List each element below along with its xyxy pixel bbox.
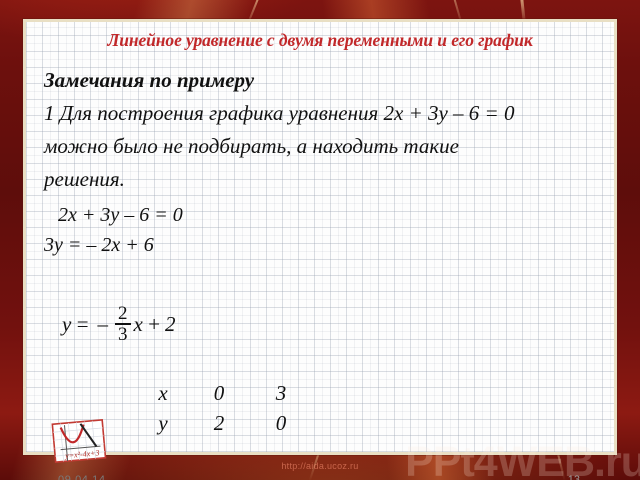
fraction-equation-plus: + — [143, 312, 165, 337]
xy-value-table: x 0 3 y 2 0 — [138, 378, 312, 438]
paragraph-line-2: можно было не подбирать, а находить таки… — [44, 130, 600, 163]
cell-x-1: 3 — [250, 378, 312, 408]
fraction: 2 3 — [115, 304, 131, 345]
section-heading: Замечания по примеру — [44, 64, 600, 97]
cell-y-0: 2 — [188, 408, 250, 438]
frame-light-streak — [556, 450, 566, 480]
fraction-numerator: 2 — [115, 304, 131, 323]
fraction-equation: y = – 2 3 x + 2 — [62, 304, 176, 345]
table-row: x 0 3 — [138, 378, 312, 408]
cell-y-1: 0 — [250, 408, 312, 438]
date-stamp: 09.04.14 — [58, 474, 106, 480]
page-number: 13 — [568, 474, 580, 480]
paragraph-line-1: 1 Для построения графика уравнения 2x + … — [44, 97, 600, 130]
math-parabola-stamp-icon: y=x²-4x+3 — [50, 416, 108, 469]
site-watermark: http://aida.ucoz.ru — [281, 461, 358, 471]
fraction-denominator: 3 — [115, 323, 131, 344]
cell-x-0: 0 — [188, 378, 250, 408]
equation-line-2: 3y = – 2x + 6 — [44, 230, 183, 260]
row-variable-x: x — [138, 378, 188, 408]
equation-line-1: 2x + 3y – 6 = 0 — [44, 200, 183, 230]
page-title: Линейное уравнение с двумя переменными и… — [26, 30, 614, 51]
fraction-equation-constant: 2 — [165, 312, 176, 337]
presentation-slide: Линейное уравнение с двумя переменными и… — [0, 0, 640, 480]
frame-light-streak — [309, 452, 320, 480]
paragraph-line-3: решения. — [44, 163, 600, 196]
body-text-block: Замечания по примеру 1 Для построения гр… — [44, 64, 600, 196]
fraction-equation-sign: – — [94, 312, 113, 337]
slide-content-page: Линейное уравнение с двумя переменными и… — [26, 22, 614, 452]
equation-block: 2x + 3y – 6 = 0 3y = – 2x + 6 — [44, 200, 183, 260]
row-variable-y: y — [138, 408, 188, 438]
fraction-equation-lhs: y — [62, 312, 71, 337]
fraction-equation-equals: = — [71, 312, 93, 337]
table-row: y 2 0 — [138, 408, 312, 438]
fraction-equation-variable: x — [134, 312, 143, 337]
